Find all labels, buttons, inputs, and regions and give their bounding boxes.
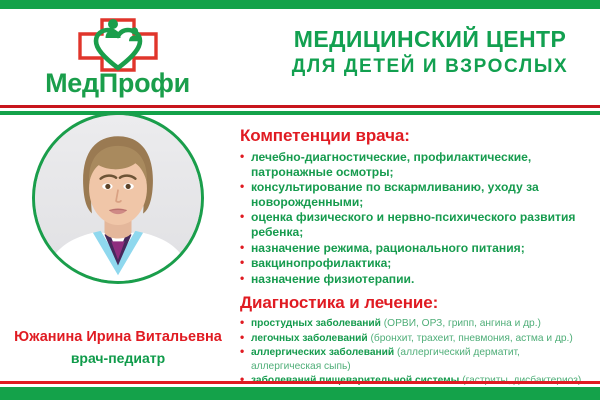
header-title: МЕДИЦИНСКИЙ ЦЕНТР ДЛЯ ДЕТЕЙ И ВЗРОСЛЫХ: [270, 26, 590, 78]
item-note: (бронхит, трахеит, пневмония, астма и др…: [371, 333, 573, 344]
list-item: вакцинопрофилактика;: [240, 256, 592, 271]
medical-center-flyer: МедПрофи МЕДИЦИНСКИЙ ЦЕНТР ДЛЯ ДЕТЕЙ И В…: [0, 0, 600, 400]
bottom-green-band: [0, 387, 600, 400]
list-item: легочных заболеваний (бронхит, трахеит, …: [240, 332, 592, 345]
list-item: консультирование по вскармливанию, уходу…: [240, 180, 592, 209]
diagnostics-title: Диагностика и лечение:: [240, 293, 592, 313]
doctor-name: Южанина Ирина Витальевна: [8, 329, 228, 345]
brand-wordmark: МедПрофи: [20, 68, 215, 99]
header-line-1: МЕДИЦИНСКИЙ ЦЕНТР: [270, 26, 590, 53]
list-item: простудных заболеваний (ОРВИ, ОРЗ, грипп…: [240, 317, 592, 330]
competencies-title: Компетенции врача:: [240, 126, 592, 146]
item-main: аллергических заболеваний: [251, 347, 394, 358]
list-item: назначение физиотерапии.: [240, 272, 592, 287]
item-note: (ОРВИ, ОРЗ, грипп, ангина и др.): [384, 318, 541, 329]
divider-green-line: [0, 111, 600, 115]
brand-logo: МедПрофи: [20, 14, 215, 100]
list-item: назначение режима, рационального питания…: [240, 241, 592, 256]
list-item: аллергических заболеваний (аллергический…: [240, 346, 592, 373]
doctor-photo: [32, 112, 204, 284]
medical-cross-heart-family-icon: [72, 14, 164, 72]
item-main: легочных заболеваний: [251, 333, 368, 344]
top-green-band: [0, 0, 600, 9]
header-line-2: ДЛЯ ДЕТЕЙ И ВЗРОСЛЫХ: [270, 56, 590, 78]
doctor-role: врач-педиатр: [8, 350, 228, 366]
list-item: оценка физического и нервно-психического…: [240, 210, 592, 239]
competencies-list: лечебно-диагностические, профилактически…: [240, 150, 592, 286]
divider-red-line: [0, 105, 600, 108]
content-panel: Компетенции врача: лечебно-диагностическ…: [240, 126, 592, 400]
bottom-red-band: [0, 381, 600, 384]
item-main: простудных заболеваний: [251, 318, 381, 329]
list-item: лечебно-диагностические, профилактически…: [240, 150, 592, 179]
